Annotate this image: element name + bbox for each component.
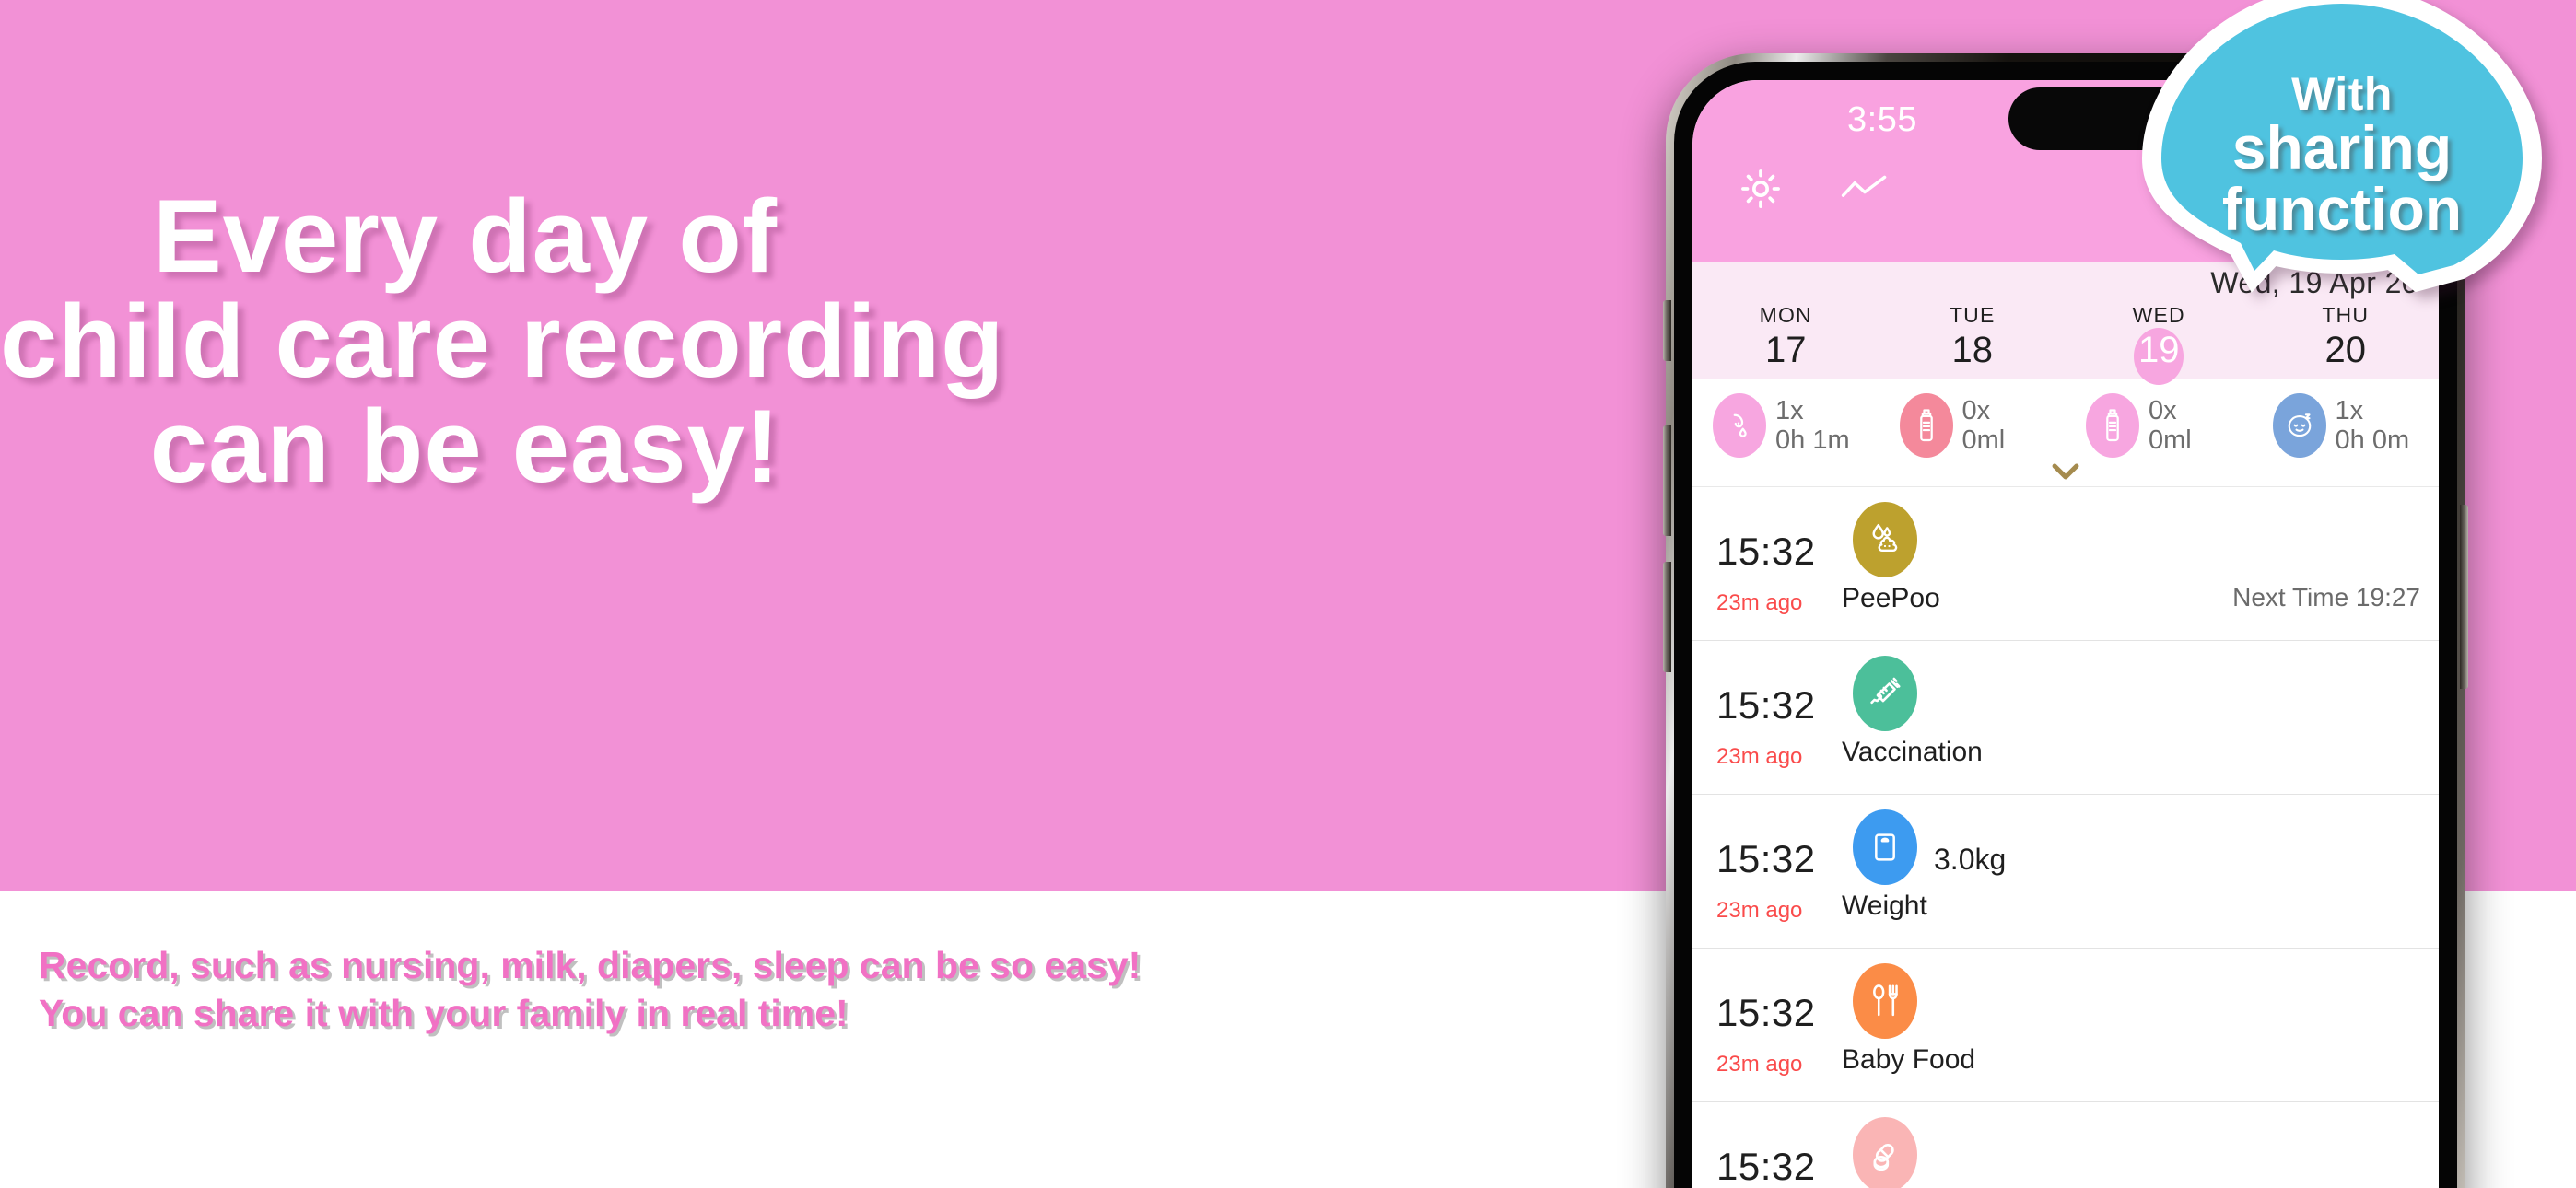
record-time: 15:32 bbox=[1716, 991, 1816, 1035]
phone-mute-switch bbox=[1663, 300, 1671, 361]
chart-line-icon[interactable] bbox=[1840, 170, 1890, 212]
record-value: 3.0kg bbox=[1934, 843, 2006, 877]
scale-icon bbox=[1853, 809, 1917, 885]
summary-item-sleep[interactable]: 1x 0h 0m bbox=[2253, 393, 2440, 458]
table-row[interactable]: 15:32 23m ago Vaccination bbox=[1692, 641, 2439, 795]
record-next-time: Next Time 19:27 bbox=[2232, 583, 2420, 612]
weekday-number: 20 bbox=[2253, 330, 2440, 371]
summary-item-milk[interactable]: 0x 0ml bbox=[2066, 393, 2253, 458]
page-headline: Every day of child care recording can be… bbox=[0, 184, 931, 500]
summary-count: 0x bbox=[1962, 396, 2006, 425]
record-label: Vaccination bbox=[1842, 737, 1983, 768]
summary-count: 1x bbox=[2336, 396, 2410, 425]
record-ago: 23m ago bbox=[1716, 590, 1802, 616]
summary-count: 0x bbox=[2149, 396, 2192, 425]
phone-volume-down-button bbox=[1663, 562, 1671, 672]
summary-count: 1x bbox=[1775, 396, 1850, 425]
summary-item-bottle[interactable]: 0x 0ml bbox=[1879, 393, 2067, 458]
record-list: 15:32 23m ago PeePoo Next Time 19:27 15 bbox=[1692, 487, 2439, 1188]
weekday-number: 17 bbox=[1692, 330, 1879, 371]
speech-bubble-shape bbox=[2112, 4, 2572, 317]
sharing-function-badge: With sharing function bbox=[2112, 4, 2572, 317]
pills-icon bbox=[1853, 1117, 1917, 1188]
summary-amount: 0h 0m bbox=[2336, 425, 2410, 455]
sleep-baby-icon bbox=[2273, 393, 2326, 458]
status-bar-clock: 3:55 bbox=[1847, 100, 1917, 140]
spoon-fork-icon bbox=[1853, 963, 1917, 1039]
summary-values-breastfeeding: 1x 0h 1m bbox=[1775, 396, 1850, 456]
table-row[interactable]: 15:32 Medicine bbox=[1692, 1102, 2439, 1188]
summary-item-breastfeeding[interactable]: 1x 0h 1m bbox=[1692, 393, 1879, 458]
weekday-name: MON bbox=[1692, 303, 1879, 328]
breastfeeding-icon bbox=[1713, 393, 1766, 458]
record-label: Baby Food bbox=[1842, 1044, 1975, 1076]
weekday-number: 18 bbox=[1879, 330, 2067, 371]
record-ago: 23m ago bbox=[1716, 898, 1802, 924]
daily-summary-row: 1x 0h 1m 0x 0ml bbox=[1692, 379, 2439, 487]
record-ago: 23m ago bbox=[1716, 744, 1802, 770]
table-row[interactable]: 15:32 23m ago PeePoo Next Time 19:27 bbox=[1692, 487, 2439, 641]
summary-amount: 0ml bbox=[1962, 425, 2006, 455]
summary-amount: 0h 1m bbox=[1775, 425, 1850, 455]
chevron-down-icon[interactable] bbox=[2050, 458, 2081, 489]
weekday-cell-mon[interactable]: MON 17 bbox=[1692, 303, 1879, 371]
bottle-icon bbox=[1900, 393, 1953, 458]
weekday-number: 19 bbox=[2066, 330, 2253, 371]
weekday-name: TUE bbox=[1879, 303, 2067, 328]
summary-values-bottle: 0x 0ml bbox=[1962, 396, 2006, 456]
summary-amount: 0ml bbox=[2149, 425, 2192, 455]
headline-line-1: Every day of bbox=[0, 184, 931, 289]
headline-line-3: can be easy! bbox=[0, 394, 931, 499]
table-row[interactable]: 15:32 23m ago Baby Food bbox=[1692, 949, 2439, 1102]
record-time: 15:32 bbox=[1716, 837, 1816, 881]
record-ago: 23m ago bbox=[1716, 1052, 1802, 1077]
record-time: 15:32 bbox=[1716, 683, 1816, 728]
headline-line-2: child care recording bbox=[0, 289, 931, 394]
record-label: Weight bbox=[1842, 891, 1927, 922]
weekday-cell-tue[interactable]: TUE 18 bbox=[1879, 303, 2067, 371]
gear-icon[interactable] bbox=[1737, 165, 1785, 217]
milk-bottle-icon bbox=[2086, 393, 2139, 458]
record-label: PeePoo bbox=[1842, 583, 1940, 614]
phone-power-button bbox=[2460, 505, 2468, 689]
subheading-line-1: Record, such as nursing, milk, diapers, … bbox=[39, 941, 1052, 989]
phone-volume-up-button bbox=[1663, 425, 1671, 536]
syringe-icon bbox=[1853, 656, 1917, 731]
subheading-line-2: You can share it with your family in rea… bbox=[39, 989, 1052, 1037]
peepoo-icon bbox=[1853, 502, 1917, 577]
record-time: 15:32 bbox=[1716, 530, 1816, 574]
record-time: 15:32 bbox=[1716, 1145, 1816, 1188]
summary-values-milk: 0x 0ml bbox=[2149, 396, 2192, 456]
summary-values-sleep: 1x 0h 0m bbox=[2336, 396, 2410, 456]
page-subheading: Record, such as nursing, milk, diapers, … bbox=[39, 941, 1052, 1038]
table-row[interactable]: 15:32 23m ago Weight 3.0kg bbox=[1692, 795, 2439, 949]
